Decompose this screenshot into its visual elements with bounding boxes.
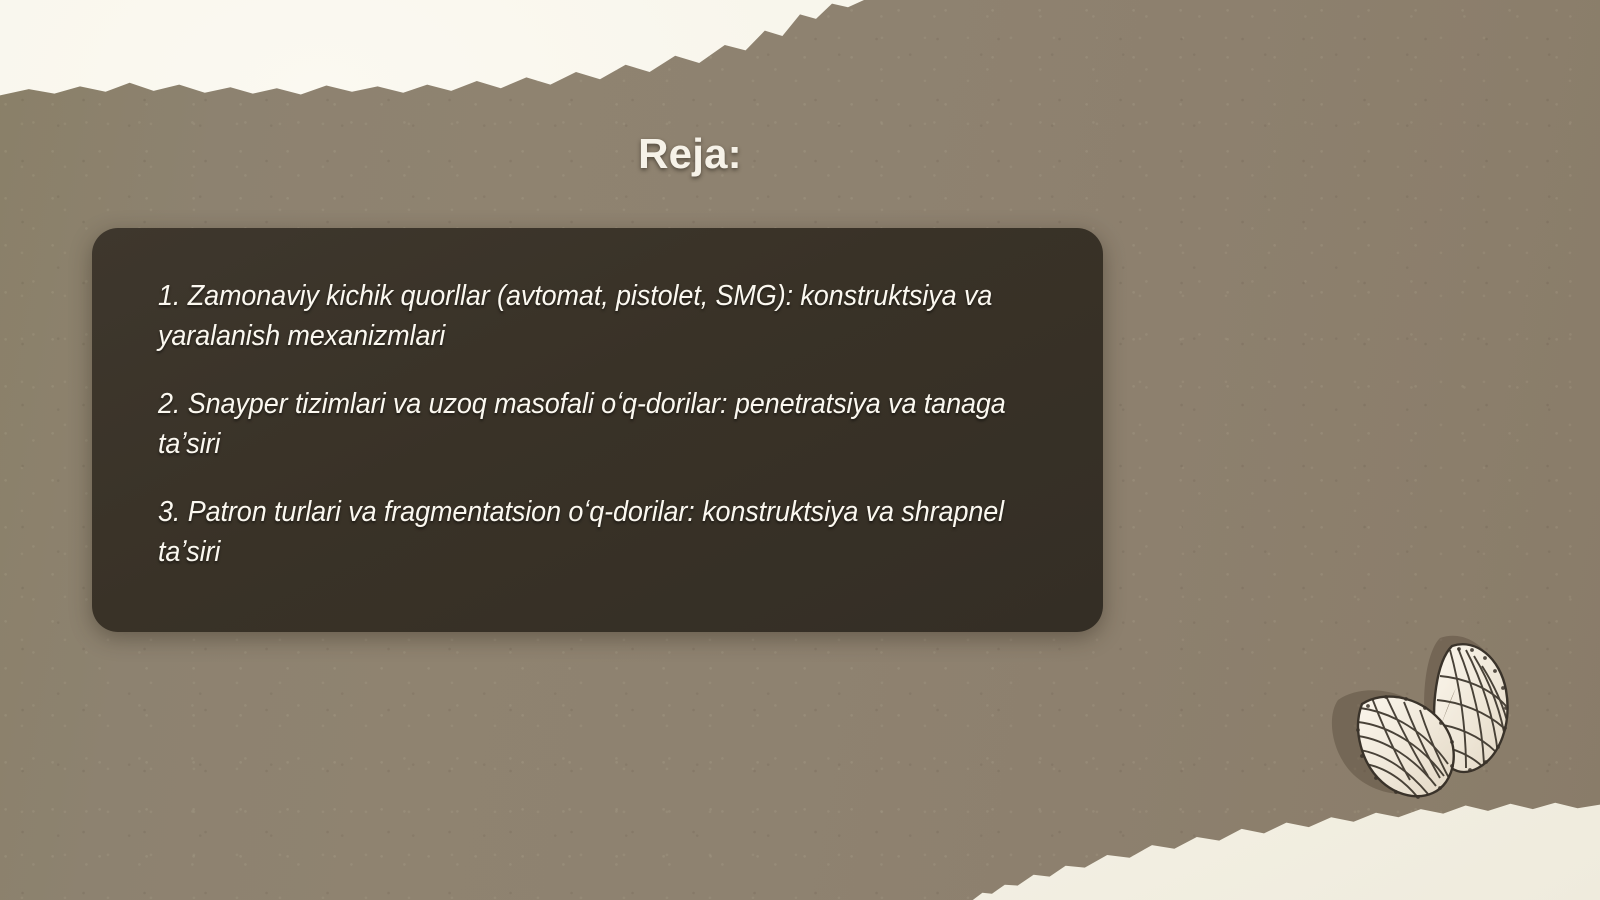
slide-canvas: Reja: 1. Zamonaviy kichik quorllar (avto…: [0, 0, 1600, 900]
butterfly-icon: [1300, 616, 1530, 806]
list-item: 1. Zamonaviy kichik quorllar (avtomat, p…: [158, 276, 1024, 356]
content-card-body: 1. Zamonaviy kichik quorllar (avtomat, p…: [158, 276, 1089, 572]
content-card: 1. Zamonaviy kichik quorllar (avtomat, p…: [92, 228, 1103, 632]
list-item: 3. Patron turlari va fragmentatsion oʻq-…: [158, 492, 1024, 572]
page-title: Reja:: [0, 130, 1380, 178]
list-item: 2. Snayper tizimlari va uzoq masofali oʻ…: [158, 384, 1024, 464]
